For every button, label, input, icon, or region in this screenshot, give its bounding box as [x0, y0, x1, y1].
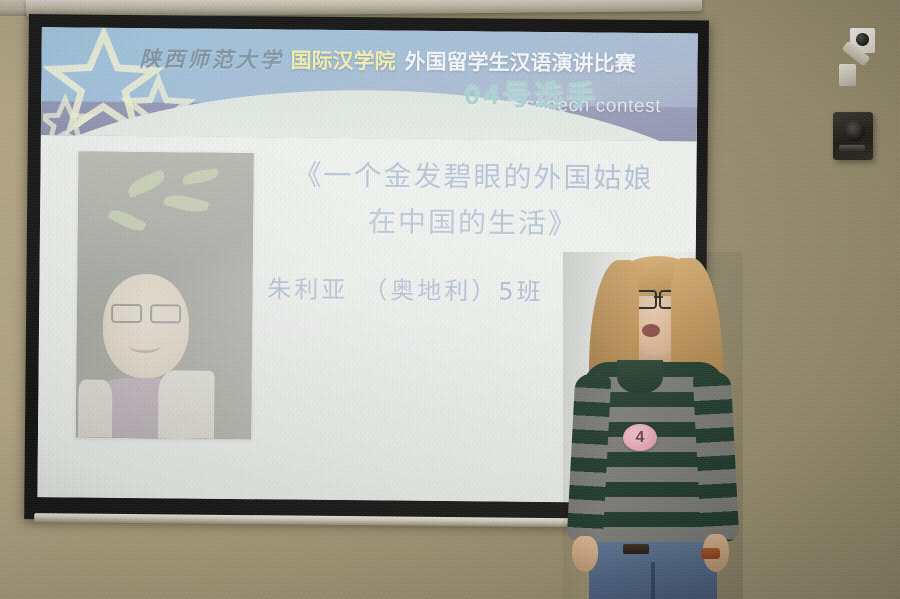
person-jeans-seam: [651, 562, 655, 599]
wall-camera-sensor-icon: [839, 28, 875, 90]
speaker-person: 4: [563, 252, 743, 599]
person-held-object: [701, 548, 720, 559]
speaker-knob-icon: [845, 121, 865, 141]
photo-projection-wash: [76, 151, 254, 439]
speaker-slot: [839, 145, 865, 152]
banner-university: 陕西师范大学: [139, 46, 283, 72]
person-mouth: [642, 324, 660, 337]
wall-speaker-box: [833, 112, 873, 160]
speech-title-line2: 在中国的生活》: [258, 199, 688, 243]
speech-title-line1: 《一个金发碧眼的外国姑娘: [258, 153, 688, 197]
person-collar: [617, 360, 663, 394]
person-arm-right: [693, 371, 740, 543]
contestant-number-title: 04号选手: [371, 70, 691, 115]
badge-number: 4: [636, 430, 645, 446]
classroom-scene: 陕西师范大学国际汉学院外国留学生汉语演讲比赛 Chinese speech co…: [0, 0, 900, 599]
sensor-base: [839, 64, 856, 86]
contestant-number-badge: 4: [623, 424, 657, 451]
person-hand-left: [572, 536, 598, 572]
contestant-photo: [76, 151, 254, 439]
sensor-lens-icon: [856, 33, 869, 46]
person-belt: [623, 544, 649, 554]
